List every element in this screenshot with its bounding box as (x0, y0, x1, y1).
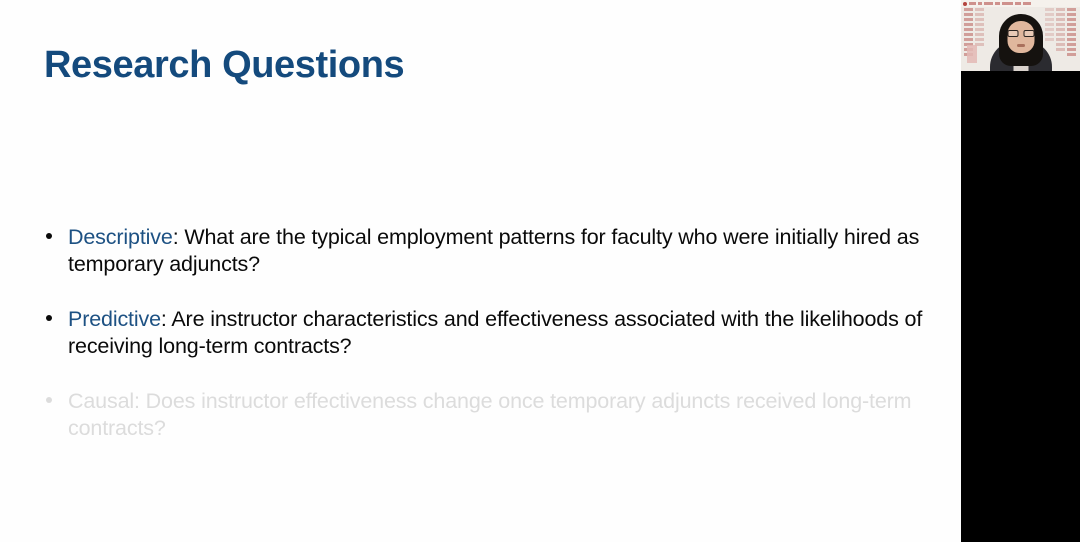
background-vertical-text (1056, 8, 1065, 66)
list-item: Causal: Does instructor effectiveness ch… (44, 388, 934, 442)
presenter-mouth (1017, 44, 1025, 47)
glasses-icon (1007, 30, 1034, 37)
list-item-lead: Predictive (68, 307, 161, 331)
video-sidebar (961, 0, 1080, 542)
background-banner-text (961, 0, 1080, 7)
list-item-lead: Causal (68, 389, 134, 413)
list-item: Descriptive: What are the typical employ… (44, 224, 934, 278)
bullet-dot-icon (46, 233, 52, 239)
presentation-screen: Research Questions Descriptive: What are… (0, 0, 1080, 542)
list-item: Predictive: Are instructor characteristi… (44, 306, 934, 360)
background-vertical-text (1045, 8, 1054, 66)
page-title: Research Questions (44, 42, 404, 88)
background-vertical-text (1067, 8, 1076, 66)
bullet-dot-icon (46, 315, 52, 321)
bullet-dot-icon (46, 397, 52, 403)
list-item-body: : Are instructor characteristics and eff… (68, 307, 922, 358)
list-item-lead: Descriptive (68, 225, 173, 249)
presenter-face (1007, 21, 1034, 53)
list-item-text: Causal: Does instructor effectiveness ch… (68, 389, 911, 440)
research-questions-list: Descriptive: What are the typical employ… (44, 224, 934, 442)
list-item-text: Descriptive: What are the typical employ… (68, 225, 919, 276)
list-item-text: Predictive: Are instructor characteristi… (68, 307, 922, 358)
list-item-body: : What are the typical employment patter… (68, 225, 919, 276)
seal-stamp-icon (967, 45, 977, 63)
slide-canvas: Research Questions Descriptive: What are… (0, 0, 961, 542)
seal-icon (963, 2, 967, 6)
list-item-body: : Does instructor effectiveness change o… (68, 389, 911, 440)
presenter-video-feed[interactable] (961, 0, 1080, 71)
